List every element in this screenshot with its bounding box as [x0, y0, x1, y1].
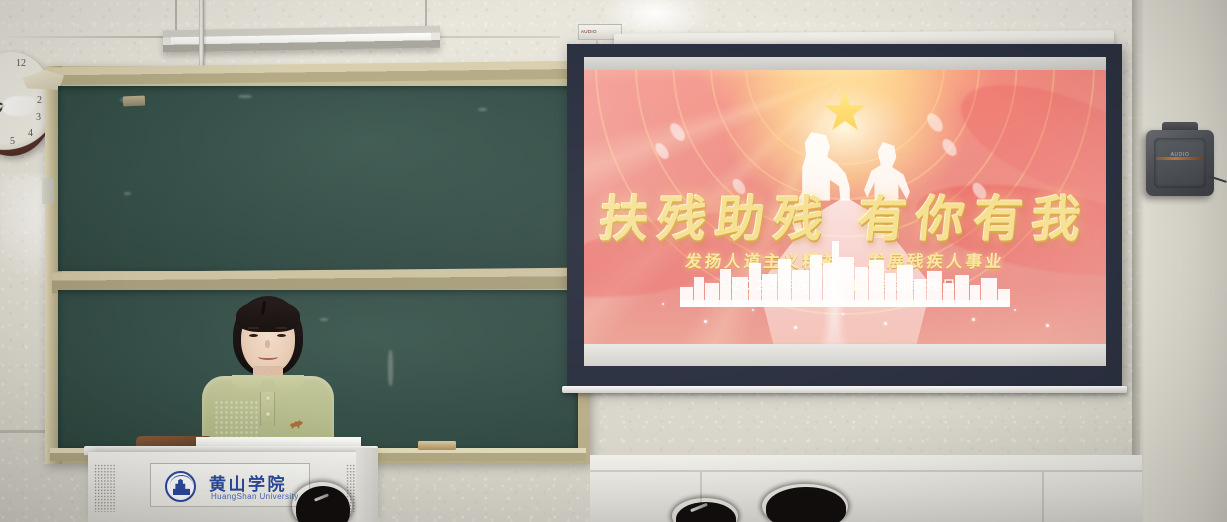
chalk-mark	[124, 192, 131, 195]
podium-side-panel	[356, 448, 378, 522]
logo-arc	[170, 475, 193, 485]
presenter-mouth	[258, 354, 278, 360]
light-hanger-rod	[175, 0, 177, 30]
university-logo-icon	[165, 471, 196, 502]
chalk-mark	[238, 95, 252, 98]
speaker-slot	[1156, 157, 1204, 160]
university-name-en: HuangShan University	[211, 492, 299, 501]
screen-bottom-margin	[584, 344, 1106, 366]
wall-edge-shadow	[1132, 0, 1144, 522]
chalk-mark	[388, 350, 393, 386]
chalk-mark	[478, 108, 487, 111]
presenter-button	[266, 396, 270, 400]
presenter-hair-front	[236, 300, 300, 332]
presenter	[196, 296, 340, 454]
podium-speaker-grille-left	[94, 464, 116, 512]
wall-speaker: AUDIO	[1146, 130, 1214, 196]
presenter-nose	[265, 340, 270, 348]
light-hanger-rod	[425, 0, 427, 26]
lower-wall-seam	[590, 470, 1142, 472]
slide-ground-light	[584, 285, 1106, 345]
screen-weight-bar[interactable]	[562, 386, 1127, 393]
presenter-eyebrow	[248, 327, 259, 329]
clock-number: 2	[37, 95, 42, 106]
speaker-face: AUDIO	[1154, 138, 1206, 188]
chalk-eraser[interactable]	[123, 96, 145, 107]
classroom-photo: 12 1 2 3 4 5 6 AUDIO	[0, 0, 1227, 522]
podium-nameplate: 黄山学院 HuangShan University	[150, 463, 310, 507]
presenter-button	[266, 412, 270, 416]
clock-glare	[2, 96, 36, 116]
chalk-eraser[interactable]	[418, 441, 456, 450]
fluorescent-tube	[171, 33, 431, 45]
wall-box-label: AUDIO	[581, 29, 597, 34]
clock-number: 5	[10, 136, 15, 147]
blackboard-latch	[42, 178, 54, 204]
student-head	[766, 487, 846, 522]
presenter-eyebrow	[276, 327, 287, 329]
blackboard-panel-upper	[58, 86, 578, 271]
screen-top-margin	[584, 57, 1106, 71]
wall-seam	[1042, 472, 1044, 522]
clock-number: 3	[36, 112, 41, 123]
right-wall-panel	[1140, 0, 1227, 522]
clock-number: 4	[28, 128, 33, 139]
clock-number: 12	[16, 58, 26, 69]
projected-slide: 扶残助残 有你有我 发扬人道主义精神 · 发展残疾人事业 -2025年5月19日…	[584, 70, 1106, 345]
